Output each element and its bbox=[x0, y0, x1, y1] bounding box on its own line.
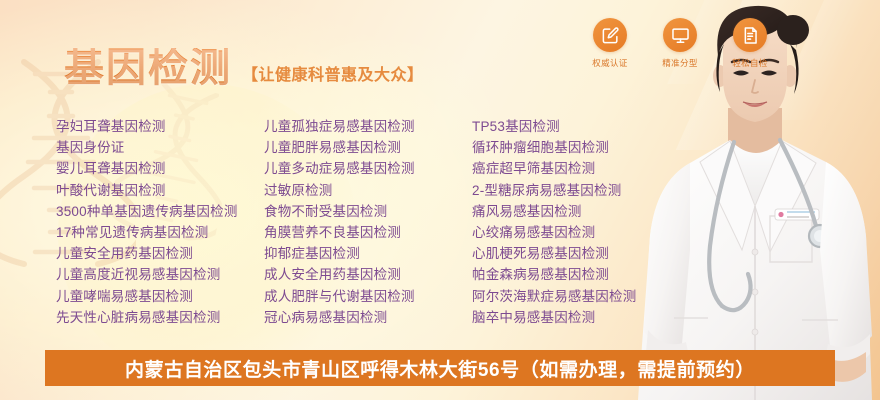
badge-authority-certification[interactable]: 权威认证 bbox=[584, 18, 636, 69]
list-item: 抑郁症基因检测 bbox=[264, 243, 472, 264]
list-item: 先天性心脏病易感基因检测 bbox=[56, 307, 264, 328]
list-item: 儿童高度近视易感基因检测 bbox=[56, 264, 264, 285]
list-item: 儿童肥胖易感基因检测 bbox=[264, 137, 472, 158]
list-item: 心绞痛易感基因检测 bbox=[472, 222, 692, 243]
list-item: 帕金森病易感基因检测 bbox=[472, 264, 692, 285]
list-item: TP53基因检测 bbox=[472, 116, 692, 137]
badge-label: 精准分型 bbox=[662, 57, 698, 69]
service-column-3: TP53基因检测 循环肿瘤细胞基因检测 癌症超早筛基因检测 2-型糖尿病易感基因… bbox=[472, 116, 692, 328]
feature-badges: 权威认证 精准分型 轻松自检 bbox=[584, 18, 776, 69]
list-item: 角膜营养不良基因检测 bbox=[264, 222, 472, 243]
service-list: 孕妇耳聋基因检测 基因身份证 婴儿耳聋基因检测 叶酸代谢基因检测 3500种单基… bbox=[56, 116, 692, 328]
list-item: 儿童多动症易感基因检测 bbox=[264, 158, 472, 179]
list-item: 循环肿瘤细胞基因检测 bbox=[472, 137, 692, 158]
list-item: 儿童哮喘易感基因检测 bbox=[56, 286, 264, 307]
light-streak bbox=[771, 0, 880, 120]
list-item: 儿童孤独症易感基因检测 bbox=[264, 116, 472, 137]
service-column-2: 儿童孤独症易感基因检测 儿童肥胖易感基因检测 儿童多动症易感基因检测 过敏原检测… bbox=[264, 116, 472, 328]
list-item: 2-型糖尿病易感基因检测 bbox=[472, 180, 692, 201]
badge-easy-self-check[interactable]: 轻松自检 bbox=[724, 18, 776, 69]
list-item: 成人安全用药基因检测 bbox=[264, 264, 472, 285]
list-item: 阿尔茨海默症易感基因检测 bbox=[472, 286, 692, 307]
service-column-1: 孕妇耳聋基因检测 基因身份证 婴儿耳聋基因检测 叶酸代谢基因检测 3500种单基… bbox=[56, 116, 264, 328]
document-report-icon bbox=[733, 18, 767, 52]
page-title: 基因检测 bbox=[64, 48, 232, 88]
list-item: 痛风易感基因检测 bbox=[472, 201, 692, 222]
list-item: 心肌梗死易感基因检测 bbox=[472, 243, 692, 264]
list-item: 过敏原检测 bbox=[264, 180, 472, 201]
list-item: 儿童安全用药基因检测 bbox=[56, 243, 264, 264]
gene-testing-poster: 基因检测 【让健康科普惠及大众】 权威认证 精准分型 bbox=[0, 0, 880, 400]
list-item: 基因身份证 bbox=[56, 137, 264, 158]
badge-label: 轻松自检 bbox=[732, 57, 768, 69]
list-item: 成人肥胖与代谢基因检测 bbox=[264, 286, 472, 307]
list-item: 叶酸代谢基因检测 bbox=[56, 180, 264, 201]
list-item: 婴儿耳聋基因检测 bbox=[56, 158, 264, 179]
monitor-icon bbox=[663, 18, 697, 52]
edit-square-icon bbox=[593, 18, 627, 52]
page-subtitle: 【让健康科普惠及大众】 bbox=[242, 68, 424, 88]
list-item: 冠心病易感基因检测 bbox=[264, 307, 472, 328]
list-item: 17种常见遗传病基因检测 bbox=[56, 222, 264, 243]
list-item: 食物不耐受基因检测 bbox=[264, 201, 472, 222]
poster-heading: 基因检测 【让健康科普惠及大众】 bbox=[64, 48, 424, 88]
list-item: 癌症超早筛基因检测 bbox=[472, 158, 692, 179]
list-item: 3500种单基因遗传病基因检测 bbox=[56, 201, 264, 222]
list-item: 脑卒中易感基因检测 bbox=[472, 307, 692, 328]
list-item: 孕妇耳聋基因检测 bbox=[56, 116, 264, 137]
badge-precise-typing[interactable]: 精准分型 bbox=[654, 18, 706, 69]
address-text: 内蒙古自治区包头市青山区呼得木林大街56号（如需办理，需提前预约） bbox=[125, 355, 755, 382]
address-banner: 内蒙古自治区包头市青山区呼得木林大街56号（如需办理，需提前预约） bbox=[45, 350, 835, 386]
badge-label: 权威认证 bbox=[592, 57, 628, 69]
